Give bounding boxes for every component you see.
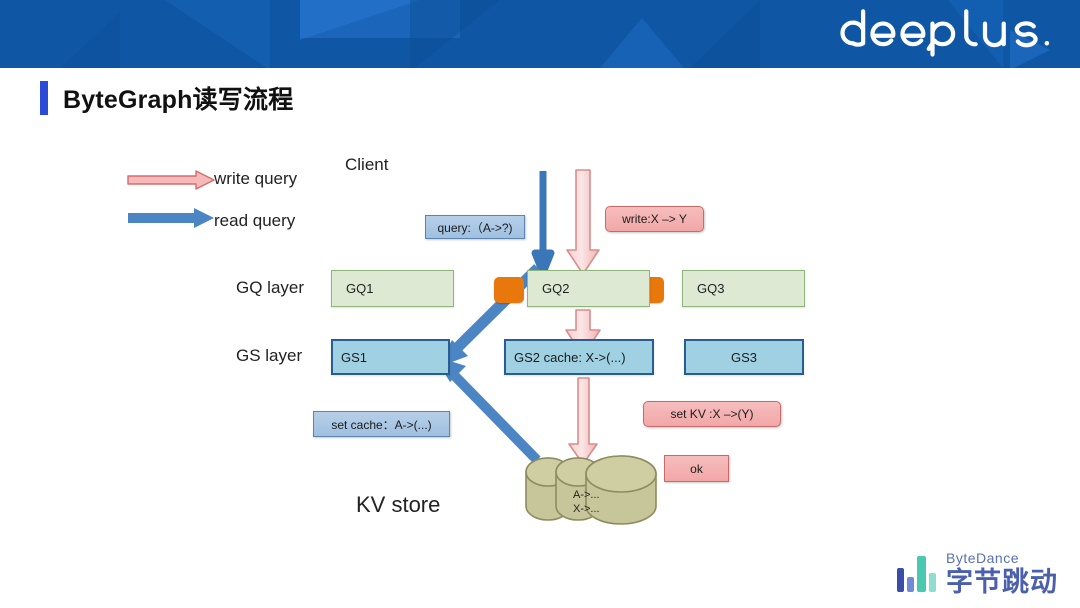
header-decoration-shape: [60, 12, 120, 68]
callout-write[interactable]: write:X –> Y: [605, 206, 704, 232]
node-gs2[interactable]: GS2 cache: X->(...): [504, 339, 654, 375]
legend-write-query-arrow: [126, 170, 216, 190]
page-title: ByteGraph读写流程: [63, 80, 293, 116]
arrow-client-to-gq2-read: [535, 171, 551, 273]
deeplus-logo: [835, 6, 1060, 58]
header-decoration-shape: [150, 0, 270, 68]
kv-store-records: A->... X->...: [573, 488, 600, 516]
bytedance-bars-icon: [897, 556, 936, 592]
page-header: [0, 0, 1080, 68]
node-gq3[interactable]: GQ3: [682, 270, 805, 307]
legend-label-read-query: read query: [214, 211, 295, 231]
title-accent-bar: [40, 81, 48, 115]
legend-label-write-query: write query: [214, 169, 297, 189]
node-gq1[interactable]: GQ1: [331, 270, 454, 307]
node-gs3[interactable]: GS3: [684, 339, 804, 375]
header-decoration-shape: [600, 18, 684, 68]
client-node[interactable]: [494, 277, 524, 303]
header-decoration-shape: [300, 0, 420, 40]
node-gq2[interactable]: GQ2: [527, 270, 650, 307]
bytedance-logo-en: ByteDance: [946, 551, 1058, 565]
arrow-client-to-gq2-write: [567, 170, 599, 274]
callout-query[interactable]: query:（A->?): [425, 215, 525, 239]
client-label: Client: [345, 155, 388, 175]
slide-title-row: ByteGraph读写流程: [40, 80, 293, 116]
kv-store-label: KV store: [356, 492, 440, 518]
bytedance-logo: ByteDance 字节跳动: [897, 551, 1058, 596]
layer-label-gs: GS layer: [236, 346, 302, 366]
layer-label-gq: GQ layer: [236, 278, 304, 298]
callout-set-kv[interactable]: set KV :X –>(Y): [643, 401, 781, 427]
legend-read-query-arrow: [126, 208, 216, 228]
callout-set-cache[interactable]: set cache：A->(...): [313, 411, 450, 437]
header-decoration-shape: [410, 0, 500, 68]
bytedance-logo-cn: 字节跳动: [946, 569, 1058, 596]
node-gs1[interactable]: GS1: [331, 339, 450, 375]
header-decoration-shape: [690, 0, 760, 68]
diagram-canvas: write query read query Client query:（A->…: [0, 130, 1080, 550]
bytedance-wordmark: ByteDance 字节跳动: [946, 551, 1058, 596]
